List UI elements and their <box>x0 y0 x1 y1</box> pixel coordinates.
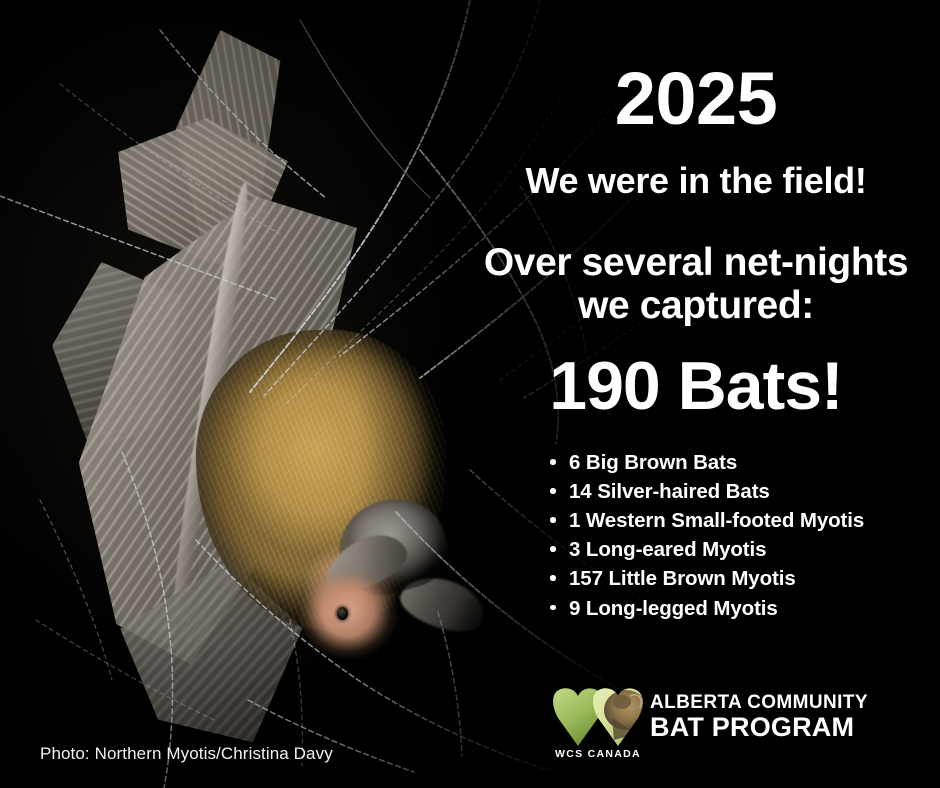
wcs-canada-logo-icon <box>552 688 644 750</box>
lead-statement: Over several net-nights we captured: <box>454 242 938 328</box>
program-name-line1: ALBERTA COMMUNITY <box>650 692 868 713</box>
bat-program-infographic-poster: 2025 We were in the field! Over several … <box>0 0 940 788</box>
alberta-community-bat-program-logo: WCS CANADA ALBERTA COMMUNITY BAT PROGRAM <box>552 688 932 766</box>
list-item: 157 Little Brown Myotis <box>542 564 940 593</box>
poster-text-column: 2025 We were in the field! Over several … <box>452 0 940 788</box>
subheading: We were in the field! <box>452 162 940 201</box>
list-item: 1 Western Small-footed Myotis <box>542 506 940 535</box>
wcs-canada-label: WCS CANADA <box>552 748 644 760</box>
list-item: 3 Long-eared Myotis <box>542 535 940 564</box>
year-heading: 2025 <box>452 62 940 136</box>
program-wordmark: ALBERTA COMMUNITY BAT PROGRAM <box>650 692 868 743</box>
total-bats-headline: 190 Bats! <box>452 352 940 420</box>
program-name-line2: BAT PROGRAM <box>650 713 868 743</box>
species-breakdown-list: 6 Big Brown Bats 14 Silver-haired Bats 1… <box>542 448 940 623</box>
list-item: 6 Big Brown Bats <box>542 448 940 477</box>
list-item: 14 Silver-haired Bats <box>542 477 940 506</box>
photo-credit: Photo: Northern Myotis/Christina Davy <box>40 744 333 764</box>
list-item: 9 Long-legged Myotis <box>542 594 940 623</box>
